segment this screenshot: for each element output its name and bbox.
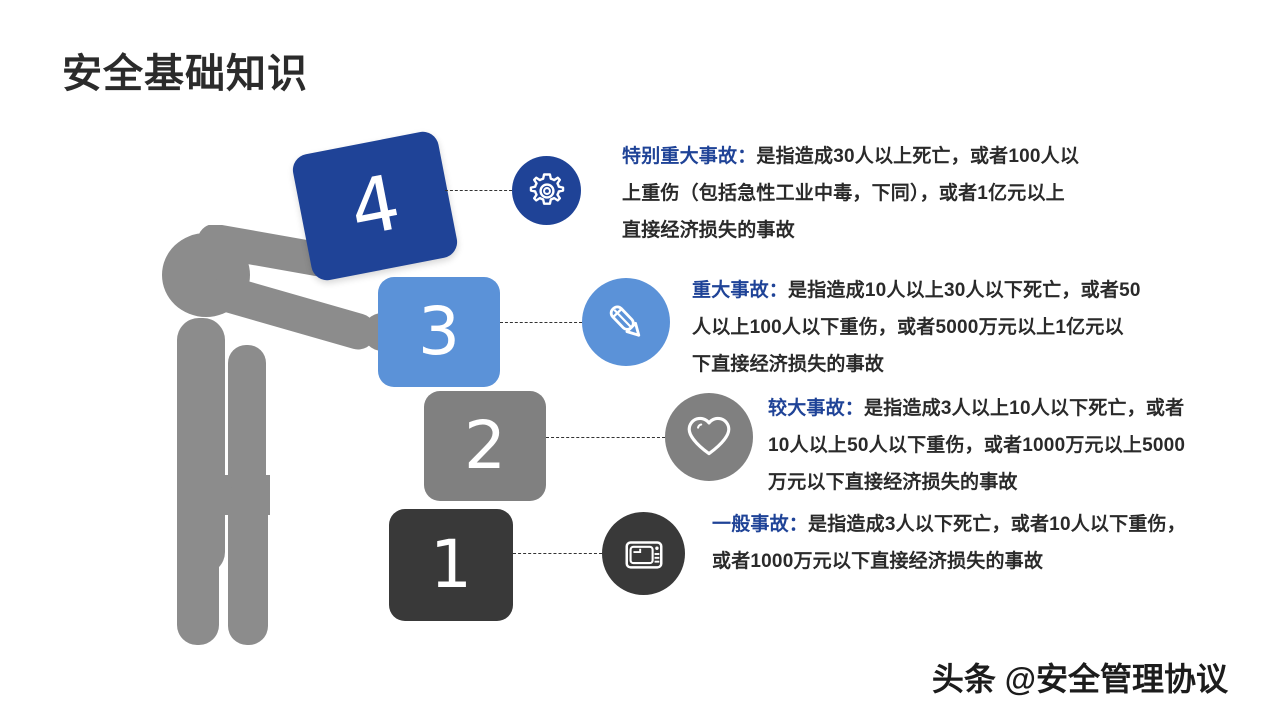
level-card-4-number: 4 bbox=[344, 164, 406, 248]
level-description-4: 特别重大事故：是指造成30人以上死亡，或者100人以上重伤（包括急性工业中毒，下… bbox=[622, 138, 1082, 249]
pencil-icon[interactable] bbox=[582, 278, 670, 366]
level-heading-1: 一般事故： bbox=[712, 514, 808, 535]
level-description-3: 重大事故：是指造成10人以上30人以下死亡，或者50人以上100人以下重伤，或者… bbox=[692, 272, 1142, 383]
pencil-icon-glyph bbox=[600, 296, 652, 348]
connector-line-2 bbox=[546, 437, 665, 438]
level-description-1: 一般事故：是指造成3人以下死亡，或者10人以下重伤，或者1000万元以下直接经济… bbox=[712, 506, 1202, 580]
heart-icon-glyph bbox=[684, 412, 734, 462]
level-card-3-number: 3 bbox=[418, 299, 460, 365]
tv-icon[interactable] bbox=[602, 512, 685, 595]
level-card-2[interactable]: 2 bbox=[424, 391, 546, 501]
level-card-1-number: 1 bbox=[430, 532, 472, 598]
level-heading-4: 特别重大事故： bbox=[622, 146, 756, 167]
level-card-3[interactable]: 3 bbox=[378, 277, 500, 387]
heart-icon[interactable] bbox=[665, 393, 753, 481]
gear-icon-glyph bbox=[525, 169, 569, 213]
watermark: 头条 @安全管理协议 bbox=[932, 654, 1228, 700]
connector-line-1 bbox=[513, 553, 602, 554]
level-heading-2: 较大事故： bbox=[768, 398, 864, 419]
level-heading-3: 重大事故： bbox=[692, 280, 788, 301]
connector-line-4 bbox=[445, 190, 512, 191]
page-title: 安全基础知识 bbox=[62, 41, 308, 99]
slide-canvas: 安全基础知识 4 3 2 bbox=[0, 0, 1280, 720]
connector-line-3 bbox=[500, 322, 582, 323]
level-card-1[interactable]: 1 bbox=[389, 509, 513, 621]
level-card-4[interactable]: 4 bbox=[290, 129, 460, 283]
gear-icon[interactable] bbox=[512, 156, 581, 225]
level-description-2: 较大事故：是指造成3人以上10人以下死亡，或者10人以上50人以下重伤，或者10… bbox=[768, 390, 1193, 501]
level-card-2-number: 2 bbox=[464, 413, 506, 479]
tv-icon-glyph bbox=[621, 531, 667, 577]
